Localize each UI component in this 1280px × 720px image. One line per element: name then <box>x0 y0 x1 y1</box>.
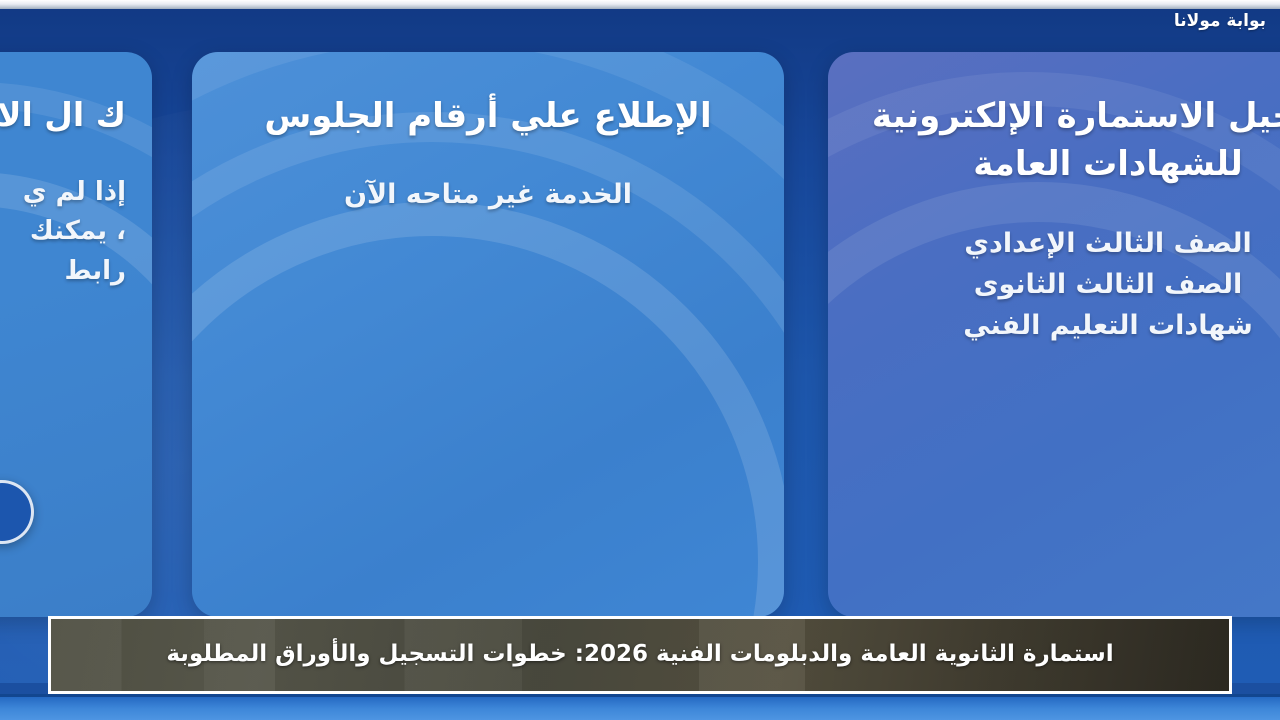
service-card-seat-numbers[interactable]: الإطلاع علي أرقام الجلوس الخدمة غير متاح… <box>192 52 784 617</box>
card-left-sub-line-3: رابط <box>0 252 126 292</box>
service-card-middle-status: الخدمة غير متاحه الآن <box>218 174 758 215</box>
service-cards-row: ك ال الا إذا لم ي ، يمكنك رابط الإطلاع ع… <box>0 9 1280 609</box>
card-left-sub-line-1: إذا لم ي <box>0 173 126 213</box>
bottom-strip-seam <box>0 694 1280 697</box>
caption-text: استمارة الثانوية العامة والدبلومات الفني… <box>148 639 1131 670</box>
bottom-strip <box>0 694 1280 720</box>
card-right-sub-line-3: شهادات التعليم الفني <box>854 305 1280 346</box>
service-card-right-subtitle: الصف الثالث الإعدادي الصف الثالث الثانوى… <box>854 223 1280 346</box>
caption-bar: استمارة الثانوية العامة والدبلومات الفني… <box>48 616 1232 694</box>
site-title: بوابة مولانا <box>1174 9 1266 33</box>
service-card-left-subtitle: إذا لم ي ، يمكنك رابط <box>0 173 126 292</box>
card-left-title-line-1: ك <box>96 95 126 134</box>
card-left-sub-line-2: ، يمكنك <box>0 212 126 252</box>
card-right-sub-line-1: الصف الثالث الإعدادي <box>854 223 1280 264</box>
card-left-title-line-2: ال <box>44 95 84 134</box>
card-left-title-line-3: الا <box>0 95 33 134</box>
browser-chrome-strip <box>0 0 1280 9</box>
service-card-registration-form[interactable]: تسجيل الاستمارة الإلكترونية للشهادات الع… <box>828 52 1280 617</box>
card-right-sub-line-2: الصف الثالث الثانوى <box>854 264 1280 305</box>
service-card-right-title: تسجيل الاستمارة الإلكترونية للشهادات الع… <box>854 92 1280 189</box>
service-card-middle-title: الإطلاع علي أرقام الجلوس <box>218 92 758 140</box>
screenshot-root: بوابة مولانا ك ال الا إذا لم ي ، يمكنك ر… <box>0 0 1280 720</box>
service-card-left-title: ك ال الا <box>0 92 126 139</box>
